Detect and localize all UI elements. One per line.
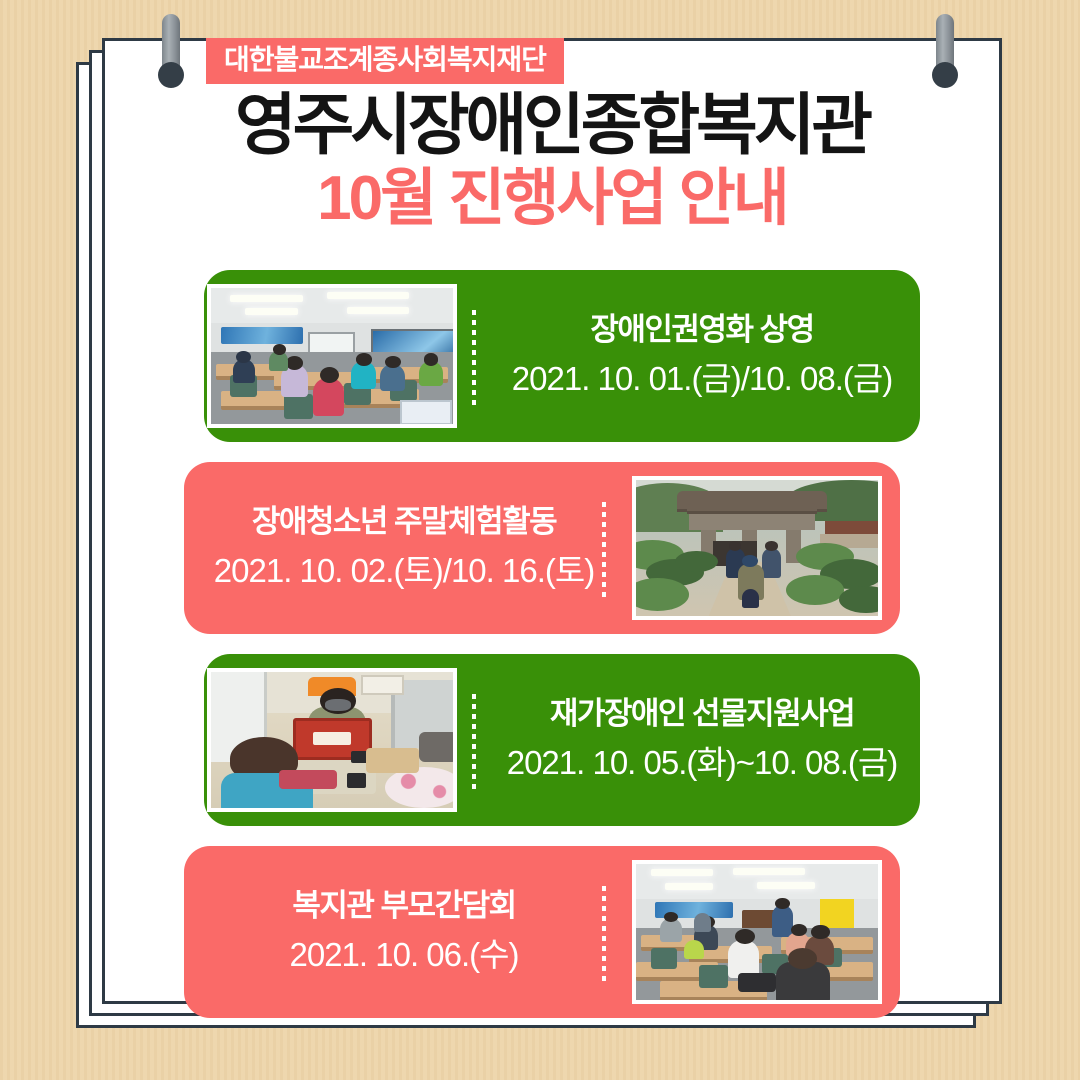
dotted-divider [602, 502, 606, 598]
organization-badge: 대한불교조계종사회복지재단 [206, 38, 564, 84]
program-row[interactable]: 복지관 부모간담회 2021. 10. 06.(수) [102, 846, 1002, 1018]
program-photo-seminar-room [207, 284, 457, 428]
program-row[interactable]: 재가장애인 선물지원사업 2021. 10. 05.(화)~10. 08.(금) [102, 654, 1002, 826]
program-row[interactable]: 장애인권영화 상영 2021. 10. 01.(금)/10. 08.(금) [102, 270, 1002, 442]
program-photo-parent-meeting [632, 860, 882, 1004]
dotted-divider [472, 310, 476, 406]
pin-base [932, 62, 958, 88]
title-sub-line: 10월 진행사업 안내 [102, 164, 1002, 233]
pin-icon-right [932, 14, 958, 88]
program-photo-home-gift [207, 668, 457, 812]
program-row[interactable]: 장애청소년 주말체험활동 2021. 10. 02.(토)/10. 16.(토) [102, 462, 1002, 634]
program-list: 장애인권영화 상영 2021. 10. 01.(금)/10. 08.(금) [102, 270, 1002, 1038]
pin-base [158, 62, 184, 88]
dotted-divider [472, 694, 476, 790]
title-main-line: 영주시장애인종합복지관 [102, 90, 1002, 162]
pin-icon-left [158, 14, 184, 88]
program-photo-temple-gate [632, 476, 882, 620]
poster-content: 대한불교조계종사회복지재단 영주시장애인종합복지관 10월 진행사업 안내 [102, 38, 1002, 1004]
page-title: 영주시장애인종합복지관 10월 진행사업 안내 [102, 90, 1002, 234]
dotted-divider [602, 886, 606, 982]
